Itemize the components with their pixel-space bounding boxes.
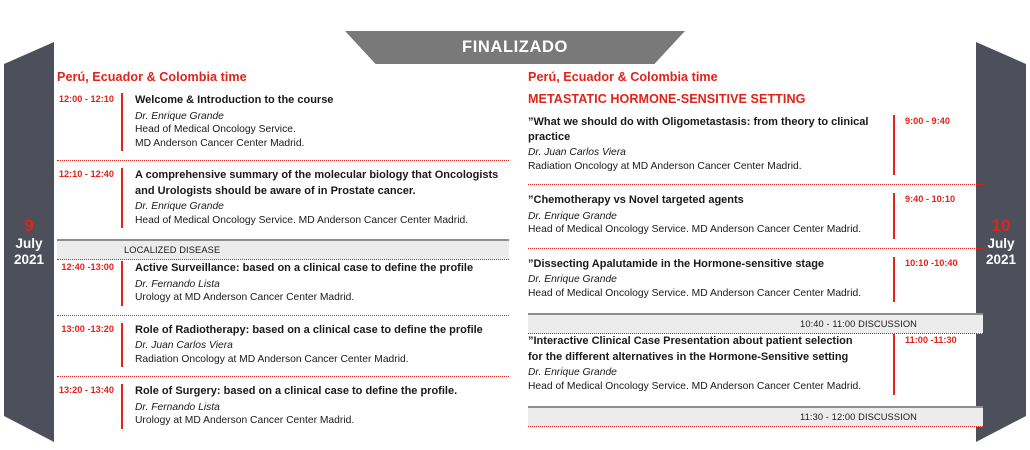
session-speaker: Dr. Enrique Grande [528,273,883,286]
agenda-row: ”Dissecting Apalutamide in the Hormone-s… [528,248,983,311]
date-ribbon-left: 9 July 2021 [4,42,54,442]
session-body: Welcome & Introduction to the course Dr.… [121,93,509,151]
discussion-band-label: 11:30 - 12:00 DISCUSSION [800,412,983,422]
session-body: ”Interactive Clinical Case Presentation … [528,334,895,395]
section-band-label: LOCALIZED DISEASE [57,245,220,255]
agenda-column-day2: Perú, Ecuador & Colombia time METASTATIC… [528,70,983,427]
session-speaker: Dr. Juan Carlos Viera [528,146,883,159]
agenda-column-day1: Perú, Ecuador & Colombia time 12:00 - 12… [57,70,509,438]
discussion-band-label: 10:40 - 11:00 DISCUSSION [800,319,983,329]
session-title: Role of Surgery: based on a clinical cas… [135,384,509,399]
session-time: 12:10 - 12:40 [57,168,121,179]
timezone-title-left: Perú, Ecuador & Colombia time [57,70,509,85]
timezone-title-right: Perú, Ecuador & Colombia time [528,70,983,85]
agenda-row: 13:00 -13:20 Role of Radiotherapy: based… [57,315,509,376]
discussion-band-2: 11:30 - 12:00 DISCUSSION [528,406,983,427]
session-body: ”Dissecting Apalutamide in the Hormone-s… [528,257,895,302]
agenda-page: FINALIZADO 9 July 2021 10 July 2021 Perú… [0,0,1030,450]
session-title: Welcome & Introduction to the course [135,93,509,108]
session-time: 13:00 -13:20 [57,323,121,334]
session-title: Active Surveillance: based on a clinical… [135,261,509,276]
session-body: Role of Surgery: based on a clinical cas… [121,384,509,428]
session-affiliation: Radiation Oncology at MD Anderson Cancer… [135,353,509,367]
session-affiliation: Head of Medical Oncology Service. [135,123,509,137]
session-body: ”What we should do with Oligometastasis:… [528,115,895,175]
session-title: for the different alternatives in the Ho… [528,350,883,365]
session-affiliation: Head of Medical Oncology Service. MD And… [135,214,509,228]
section-band-localized-disease: LOCALIZED DISEASE [57,239,509,260]
date-ribbon-right-month: July [987,236,1014,252]
session-affiliation: Head of Medical Oncology Service. MD And… [528,380,883,394]
session-time: 9:40 - 10:10 [895,193,983,204]
discussion-band-1: 10:40 - 11:00 DISCUSSION [528,313,983,334]
session-body: A comprehensive summary of the molecular… [121,168,509,228]
agenda-row: ”Chemotherapy vs Novel targeted agents D… [528,184,983,247]
session-speaker: Dr. Fernando Lista [135,401,509,414]
session-speaker: Dr. Enrique Grande [528,366,883,379]
session-title: Role of Radiotherapy: based on a clinica… [135,323,509,338]
session-time: 11:00 -11:30 [895,334,983,345]
status-banner-label: FINALIZADO [462,38,568,57]
session-speaker: Dr. Enrique Grande [528,210,883,223]
agenda-row: 12:40 -13:00 Active Surveillance: based … [57,260,509,314]
session-title: and Urologists should be aware of in Pro… [135,184,509,199]
session-title: A comprehensive summary of the molecular… [135,168,509,183]
session-title: ”Interactive Clinical Case Presentation … [528,334,883,349]
agenda-row: 13:20 - 13:40 Role of Surgery: based on … [57,376,509,437]
session-affiliation: Head of Medical Oncology Service. MD And… [528,223,883,237]
section-title-metastatic: METASTATIC HORMONE-SENSITIVE SETTING [528,92,983,107]
session-body: ”Chemotherapy vs Novel targeted agents D… [528,193,895,238]
agenda-row: ”What we should do with Oligometastasis:… [528,115,983,184]
session-affiliation: Urology at MD Anderson Cancer Center Mad… [135,414,509,428]
session-speaker: Dr. Fernando Lista [135,278,509,291]
agenda-row: 12:00 - 12:10 Welcome & Introduction to … [57,92,509,160]
session-body: Role of Radiotherapy: based on a clinica… [121,323,509,367]
session-body: Active Surveillance: based on a clinical… [121,261,509,305]
session-speaker: Dr. Enrique Grande [135,200,509,213]
date-ribbon-left-year: 2021 [14,252,44,268]
session-title: ”What we should do with Oligometastasis:… [528,115,883,144]
date-ribbon-right-year: 2021 [986,252,1016,268]
session-title: ”Chemotherapy vs Novel targeted agents [528,193,883,208]
date-ribbon-left-day: 9 [24,216,33,236]
session-speaker: Dr. Enrique Grande [135,110,509,123]
date-ribbon-right-day: 10 [992,216,1011,236]
session-affiliation: Radiation Oncology at MD Anderson Cancer… [528,160,883,174]
session-time: 12:00 - 12:10 [57,93,121,104]
agenda-row: ”Interactive Clinical Case Presentation … [528,334,983,404]
session-title: ”Dissecting Apalutamide in the Hormone-s… [528,257,883,272]
session-affiliation: Urology at MD Anderson Cancer Center Mad… [135,291,509,305]
session-time: 9:00 - 9:40 [895,115,983,126]
session-affiliation: Head of Medical Oncology Service. MD And… [528,287,883,301]
status-banner: FINALIZADO [345,31,685,64]
session-speaker: Dr. Juan Carlos Viera [135,339,509,352]
date-ribbon-left-month: July [15,236,42,252]
agenda-row: 12:10 - 12:40 A comprehensive summary of… [57,160,509,237]
session-affiliation: MD Anderson Cancer Center Madrid. [135,137,509,151]
session-time: 13:20 - 13:40 [57,384,121,395]
session-time: 10:10 -10:40 [895,257,983,268]
date-ribbon-right: 10 July 2021 [976,42,1026,442]
session-time: 12:40 -13:00 [57,261,121,272]
